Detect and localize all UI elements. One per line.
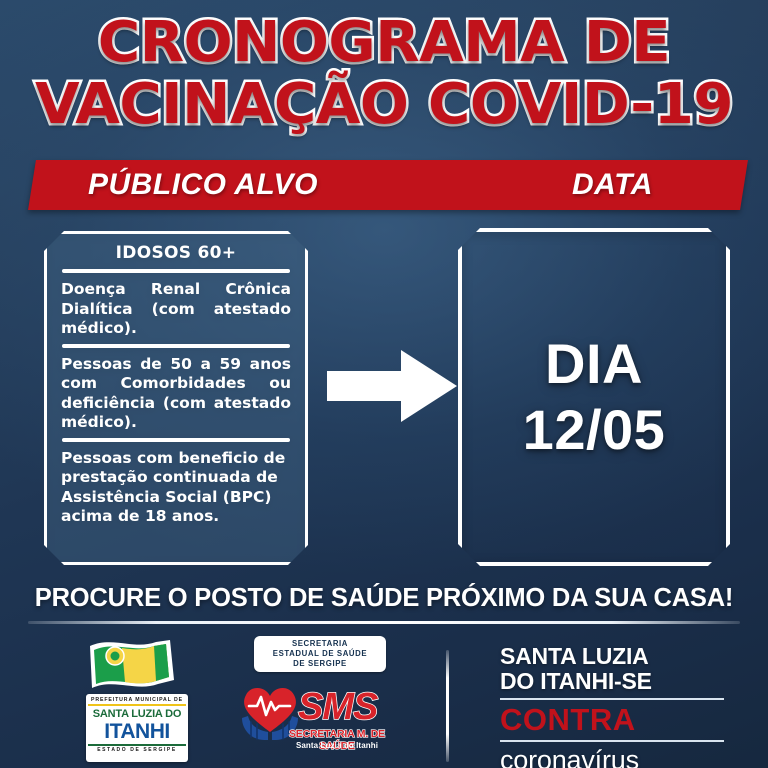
banner-label-publico-alvo: PÚBLICO ALVO [88, 168, 318, 202]
footer-divider [28, 621, 740, 624]
audience-item-3: Pessoas com beneficio de prestação conti… [59, 449, 293, 527]
sms-header-block: SECRETARIA ESTADUAL DE SAÚDE DE SERGIPE [254, 636, 386, 672]
sms-acronym: SMS [298, 688, 377, 726]
right-arrow-icon [327, 348, 457, 424]
audience-divider-3 [62, 438, 290, 442]
prefeitura-city-big: ITANHI [88, 721, 186, 743]
sms-header-line-2: ESTADUAL DE SAÚDE [258, 649, 382, 659]
audience-divider-2 [62, 344, 290, 348]
sms-sub-line-2: Santa Luzia do Itanhi [272, 741, 402, 750]
footer: PREFEITURA MUNICIPAL DE SANTA LUZIA DO I… [0, 634, 768, 768]
date-box: DIA 12/05 [458, 228, 730, 566]
date-label: DIA [545, 331, 643, 397]
campaign-rule-top [500, 698, 724, 700]
audience-heading: IDOSOS 60+ [59, 243, 293, 263]
campaign-contra: CONTRA [500, 703, 736, 736]
audience-box: IDOSOS 60+ Doença Renal Crônica Dialític… [44, 231, 308, 565]
prefeitura-logo: PREFEITURA MUNICIPAL DE SANTA LUZIA DO I… [78, 636, 196, 764]
section-header-banner: PÚBLICO ALVO DATA [28, 160, 748, 210]
sms-logo: SECRETARIA ESTADUAL DE SAÚDE DE SERGIPE … [236, 634, 404, 766]
sms-header-line-3: DE SERGIPE [258, 659, 382, 669]
poster-title: CRONOGRAMA DE VACINAÇÃO COVID-19 [0, 12, 768, 136]
poster-canvas: CRONOGRAMA DE VACINAÇÃO COVID-19 PÚBLICO… [0, 0, 768, 768]
title-line-2: VACINAÇÃO COVID-19 [0, 74, 768, 136]
campaign-block: SANTA LUZIA DO ITANHI-SE CONTRA coronaví… [500, 644, 736, 768]
audience-divider-1 [62, 269, 290, 273]
sms-header-line-1: SECRETARIA [258, 639, 382, 649]
campaign-city-line-2: DO ITANHI-SE [500, 669, 736, 694]
campaign-rule-bottom [500, 740, 724, 742]
footer-vertical-divider [446, 650, 449, 762]
audience-item-2: Pessoas de 50 a 59 anos com Comorbidades… [59, 355, 293, 433]
audience-item-1: Doença Renal Crônica Dialítica (com ates… [59, 280, 293, 339]
prefeitura-bottom-text: ESTADO DE SERGIPE [88, 744, 186, 753]
date-value: 12/05 [523, 397, 666, 463]
call-to-action-text: PROCURE O POSTO DE SAÚDE PRÓXIMO DA SUA … [0, 584, 768, 613]
banner-label-data: DATA [572, 168, 653, 202]
prefeitura-flag-icon [78, 636, 196, 702]
campaign-coronavirus: coronavírus [500, 745, 736, 768]
prefeitura-top-text: PREFEITURA MUNICIPAL DE [88, 697, 186, 706]
title-line-1: CRONOGRAMA DE [0, 12, 768, 74]
campaign-city-line-1: SANTA LUZIA [500, 644, 736, 669]
